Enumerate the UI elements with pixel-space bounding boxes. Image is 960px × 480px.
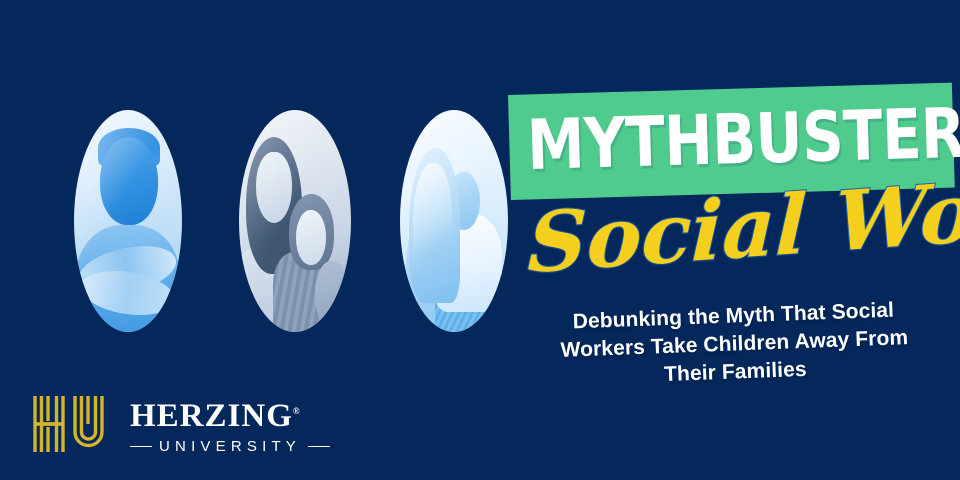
subline-rule-right: [308, 446, 330, 448]
herzing-university-logo[interactable]: HERZING® UNIVERSITY: [32, 392, 312, 460]
herzing-wordmark-block: HERZING® UNIVERSITY: [130, 392, 320, 454]
hu-monogram-icon: [32, 394, 114, 454]
university-subline-row: UNIVERSITY: [130, 438, 320, 455]
photo-oval-woman-baby: [400, 110, 508, 332]
photo-boy-sheen: [74, 110, 182, 332]
herzing-wordmark-text: HERZING: [130, 398, 293, 434]
photo-md-sheen: [239, 110, 351, 332]
photo-wb-sheen: [400, 110, 508, 332]
university-subline: UNIVERSITY: [159, 438, 301, 455]
registered-mark: ®: [293, 406, 300, 416]
photo-oval-mother-daughter: [239, 110, 351, 332]
herzing-wordmark: HERZING®: [130, 392, 320, 435]
photo-oval-boy: [74, 110, 182, 332]
subline-rule-left: [130, 446, 152, 448]
subtitle-block: Debunking the Myth That Social Workers T…: [528, 295, 941, 394]
social-work-mythbusters-banner: MYTHBUSTERS Social Work Debunking the My…: [0, 0, 960, 480]
